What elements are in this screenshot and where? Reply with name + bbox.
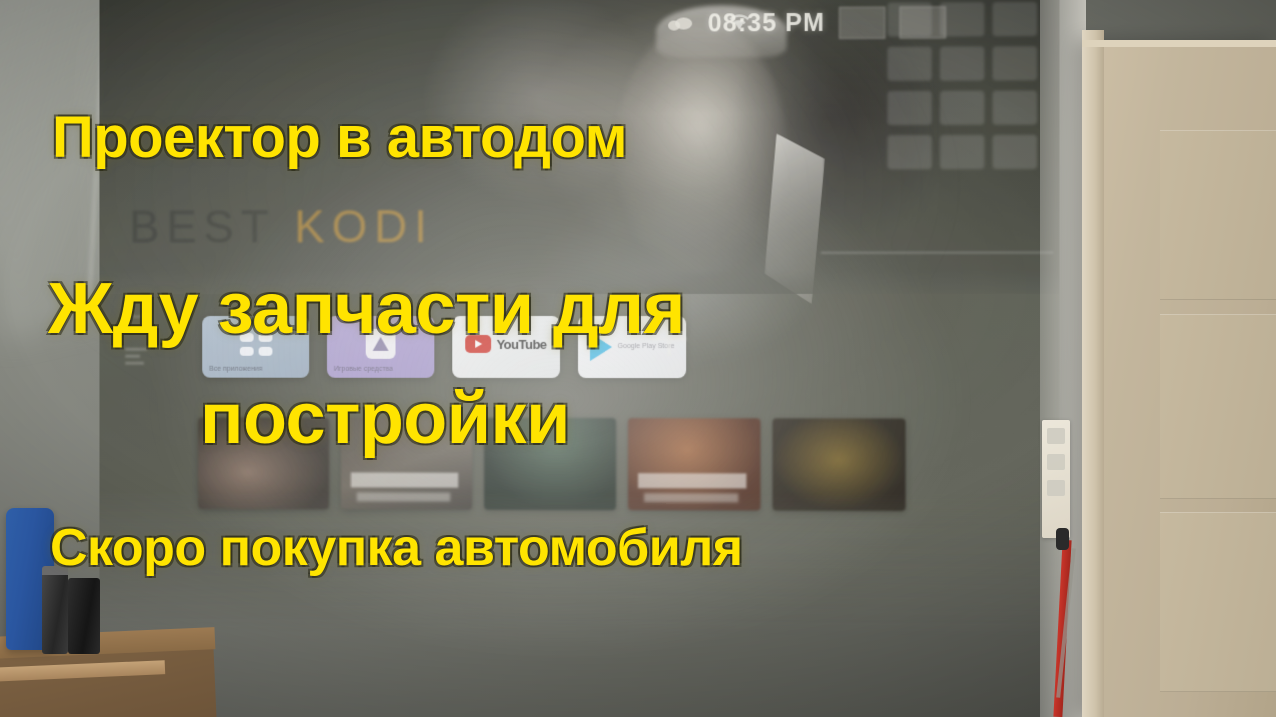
wordmark-kodi: KODI <box>294 200 434 252</box>
plus-cursor-icon[interactable] <box>652 322 686 356</box>
door-panel <box>1160 512 1276 692</box>
door-top-edge <box>1082 40 1276 47</box>
settings-gear-icon[interactable] <box>125 294 149 318</box>
best-kodi-wordmark: BEST KODI <box>129 199 434 253</box>
app-shortcut-row[interactable]: Все приложения Игровые средства YouTube … <box>202 316 686 378</box>
four-dots-icon <box>239 332 272 355</box>
projected-screen: 08:35 PM BEST KODI Все приложения <box>100 0 1060 636</box>
google-play-icon <box>590 333 612 361</box>
door-jamb <box>1082 30 1104 717</box>
tv-status-bar: 08:35 PM <box>100 2 1060 46</box>
triangle-badge-icon <box>366 329 396 359</box>
poster-tile[interactable] <box>773 418 906 511</box>
status-thumb-1 <box>839 7 885 39</box>
wordmark-best: BEST <box>129 201 275 253</box>
background-divider <box>821 252 1053 254</box>
app-tile-label: Все приложения <box>209 366 262 373</box>
door-panel <box>1160 130 1276 300</box>
poster-tile[interactable] <box>341 418 472 510</box>
status-clock: 08:35 PM <box>708 8 825 38</box>
app-tile-youtube[interactable]: YouTube <box>452 316 560 378</box>
spray-can-right <box>68 578 100 654</box>
left-nav-rail[interactable] <box>125 294 149 369</box>
spray-can-cap <box>42 566 68 575</box>
app-tile-all-apps[interactable]: Все приложения <box>202 316 309 378</box>
screenshot-frame: 08:35 PM BEST KODI Все приложения <box>0 0 1276 717</box>
content-carousel[interactable] <box>198 417 905 511</box>
poster-tile[interactable] <box>198 417 329 509</box>
poster-tile[interactable] <box>628 418 760 510</box>
youtube-wordmark: YouTube <box>497 336 547 351</box>
app-tile-label: Игровые средства <box>334 366 393 373</box>
list-lines-icon[interactable] <box>125 348 147 369</box>
youtube-icon: YouTube <box>466 335 547 353</box>
cloud-icon <box>668 15 694 31</box>
spray-can-left <box>42 572 68 654</box>
poster-tile[interactable] <box>484 418 616 510</box>
status-thumb-2 <box>899 6 945 38</box>
broom-tip <box>1056 528 1069 550</box>
app-tile-game-tools[interactable]: Игровые средства <box>327 316 434 378</box>
door-panel <box>1160 314 1276 499</box>
light-switch-plate[interactable] <box>1042 420 1070 538</box>
